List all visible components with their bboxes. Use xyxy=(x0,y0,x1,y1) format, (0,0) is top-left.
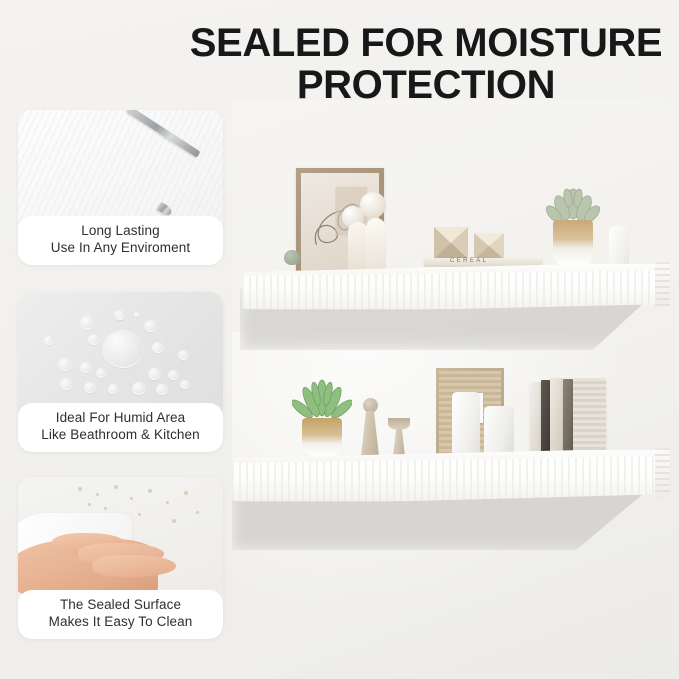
caption-line-1: Ideal For Humid Area xyxy=(24,410,217,426)
pearl-sculpture-figurine xyxy=(340,192,392,270)
feature-card-long-lasting: Long Lasting Use In Any Enviroment xyxy=(18,110,223,265)
block-facets xyxy=(434,227,468,259)
stack-of-books xyxy=(530,378,606,458)
water-droplet xyxy=(144,320,157,332)
plant-pot-textured xyxy=(302,418,342,456)
water-droplet xyxy=(60,378,73,390)
caption-line-1: The Sealed Surface xyxy=(24,597,217,613)
finger xyxy=(92,555,176,577)
water-droplet xyxy=(152,342,164,353)
feature-card-humid-area: Ideal For Humid Area Like Beathroom & Ki… xyxy=(18,292,223,452)
succulent-pot xyxy=(553,220,593,266)
block-facets-small xyxy=(474,233,504,259)
crumb xyxy=(96,493,99,496)
book-spine xyxy=(550,378,563,458)
water-droplet xyxy=(156,384,168,395)
crumb xyxy=(166,501,169,504)
small-green-gourd-ornament xyxy=(284,250,300,265)
feature-card-caption: The Sealed Surface Makes It Easy To Clea… xyxy=(18,590,223,639)
crumb xyxy=(104,507,107,510)
crumb xyxy=(138,513,141,516)
caption-line-1: Long Lasting xyxy=(24,223,217,239)
crumb xyxy=(78,487,82,491)
product-infographic: SEALED FOR MOISTURE PROTECTION xyxy=(0,0,679,679)
water-droplet xyxy=(80,316,95,330)
water-droplet xyxy=(180,380,190,389)
wood-figurine-cup-top xyxy=(388,418,410,456)
water-droplet xyxy=(178,350,189,360)
bottom-shelf-front-edge xyxy=(232,456,670,502)
feature-card-easy-clean: The Sealed Surface Makes It Easy To Clea… xyxy=(18,477,223,639)
crumb xyxy=(172,519,176,523)
crumb xyxy=(196,511,199,514)
top-shelf-front-edge xyxy=(242,270,670,310)
crumb xyxy=(130,497,133,500)
headline-line-1: SEALED FOR MOISTURE xyxy=(190,21,662,65)
book-spine xyxy=(563,379,573,458)
water-droplet xyxy=(88,334,100,345)
white-cylinder-vase-short xyxy=(484,406,514,456)
book-spine xyxy=(541,380,550,458)
water-droplet-large xyxy=(102,330,144,368)
white-cylinder-vase-tall xyxy=(452,392,480,456)
succulent-in-tan-white-pot xyxy=(545,184,601,268)
geometric-wood-blocks xyxy=(434,225,506,259)
crumb xyxy=(184,491,188,495)
water-droplet xyxy=(148,368,161,380)
green-plant-in-textured-pot xyxy=(292,378,352,456)
water-droplet xyxy=(108,384,119,394)
caption-line-2: Like Beathroom & Kitchen xyxy=(24,427,217,443)
feature-card-caption: Ideal For Humid Area Like Beathroom & Ki… xyxy=(18,403,223,452)
water-droplet xyxy=(80,362,92,373)
wood-figurine-round-top xyxy=(360,398,380,456)
crumb xyxy=(148,489,152,493)
water-droplet xyxy=(134,312,139,317)
caption-line-2: Makes It Easy To Clean xyxy=(24,614,217,630)
water-droplet xyxy=(118,314,124,320)
book-spine xyxy=(530,382,541,458)
water-droplet xyxy=(132,382,146,395)
crumb xyxy=(114,485,118,489)
book-spine xyxy=(573,378,606,458)
water-droplet xyxy=(168,370,179,380)
feature-card-caption: Long Lasting Use In Any Enviroment xyxy=(18,216,223,265)
crumb xyxy=(88,503,91,506)
water-droplet xyxy=(96,368,107,378)
page-title: SEALED FOR MOISTURE PROTECTION xyxy=(180,22,672,107)
water-droplet xyxy=(44,336,54,345)
book-cereal-label: CEREAL xyxy=(450,258,488,264)
caption-line-2: Use In Any Enviroment xyxy=(24,240,217,256)
water-droplet xyxy=(84,382,96,393)
water-droplet xyxy=(58,358,72,371)
